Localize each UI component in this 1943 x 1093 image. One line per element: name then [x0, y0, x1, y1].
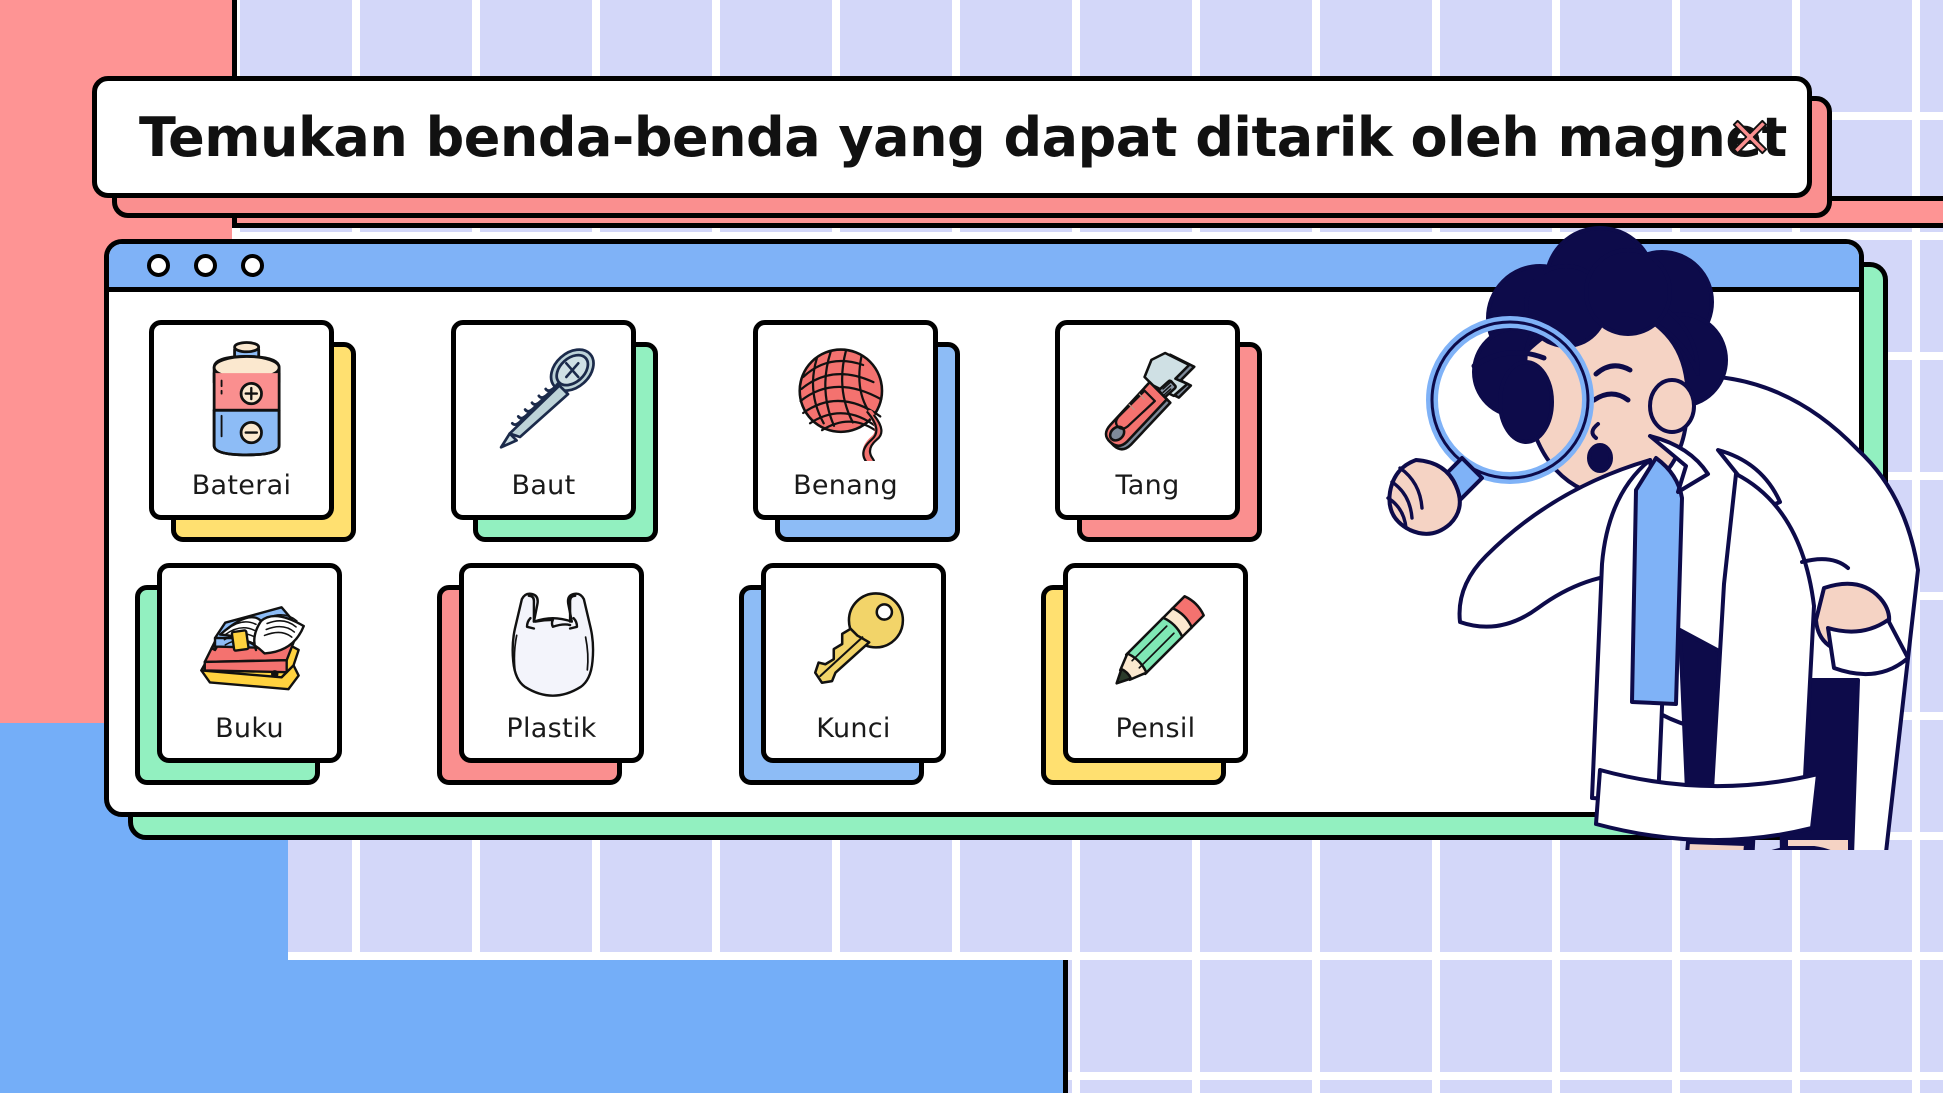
- battery-icon: [154, 325, 329, 470]
- item-card-benang[interactable]: Benang: [753, 320, 998, 563]
- card-face[interactable]: Tang: [1055, 320, 1240, 520]
- item-card-tang[interactable]: Tang: [1055, 320, 1300, 563]
- browser-titlebar: [109, 244, 1859, 292]
- window-dot-3-icon[interactable]: [241, 254, 264, 277]
- item-card-kunci[interactable]: Kunci: [753, 563, 998, 806]
- item-card-buku[interactable]: Buku: [149, 563, 394, 806]
- decor-block-blue-bottom: [288, 960, 1063, 1093]
- card-label: Baterai: [192, 470, 292, 515]
- item-card-pensil[interactable]: Pensil: [1055, 563, 1300, 806]
- decor-vertical-line-2: [1063, 960, 1068, 1093]
- plastic-bag-icon: [464, 568, 639, 713]
- page-title: Temukan benda-benda yang dapat ditarik o…: [139, 106, 1787, 169]
- window-dot-1-icon[interactable]: [147, 254, 170, 277]
- close-icon[interactable]: [1731, 118, 1769, 156]
- item-card-baut[interactable]: Baut: [451, 320, 696, 563]
- item-card-grid: Baterai: [149, 320, 1300, 806]
- key-icon: [766, 568, 941, 713]
- item-card-baterai[interactable]: Baterai: [149, 320, 394, 563]
- card-face[interactable]: Benang: [753, 320, 938, 520]
- browser-window: Baterai: [104, 239, 1864, 817]
- browser-content: Baterai: [109, 292, 1859, 817]
- card-label: Kunci: [816, 713, 890, 758]
- item-card-plastik[interactable]: Plastik: [451, 563, 696, 806]
- card-face[interactable]: Plastik: [459, 563, 644, 763]
- books-icon: [162, 568, 337, 713]
- card-label: Plastik: [506, 713, 596, 758]
- wrench-icon: [1060, 325, 1235, 470]
- window-dot-2-icon[interactable]: [194, 254, 217, 277]
- card-label: Baut: [512, 470, 576, 515]
- card-face[interactable]: Baterai: [149, 320, 334, 520]
- screen-root: Temukan benda-benda yang dapat ditarik o…: [0, 0, 1943, 1093]
- pencil-icon: [1068, 568, 1243, 713]
- card-label: Benang: [793, 470, 898, 515]
- yarn-ball-icon: [758, 325, 933, 470]
- card-label: Tang: [1115, 470, 1179, 515]
- card-label: Buku: [215, 713, 284, 758]
- card-face[interactable]: Buku: [157, 563, 342, 763]
- card-face[interactable]: Baut: [451, 320, 636, 520]
- card-face[interactable]: Pensil: [1063, 563, 1248, 763]
- card-label: Pensil: [1116, 713, 1196, 758]
- screw-icon: [456, 325, 631, 470]
- title-banner: Temukan benda-benda yang dapat ditarik o…: [92, 76, 1812, 198]
- card-face[interactable]: Kunci: [761, 563, 946, 763]
